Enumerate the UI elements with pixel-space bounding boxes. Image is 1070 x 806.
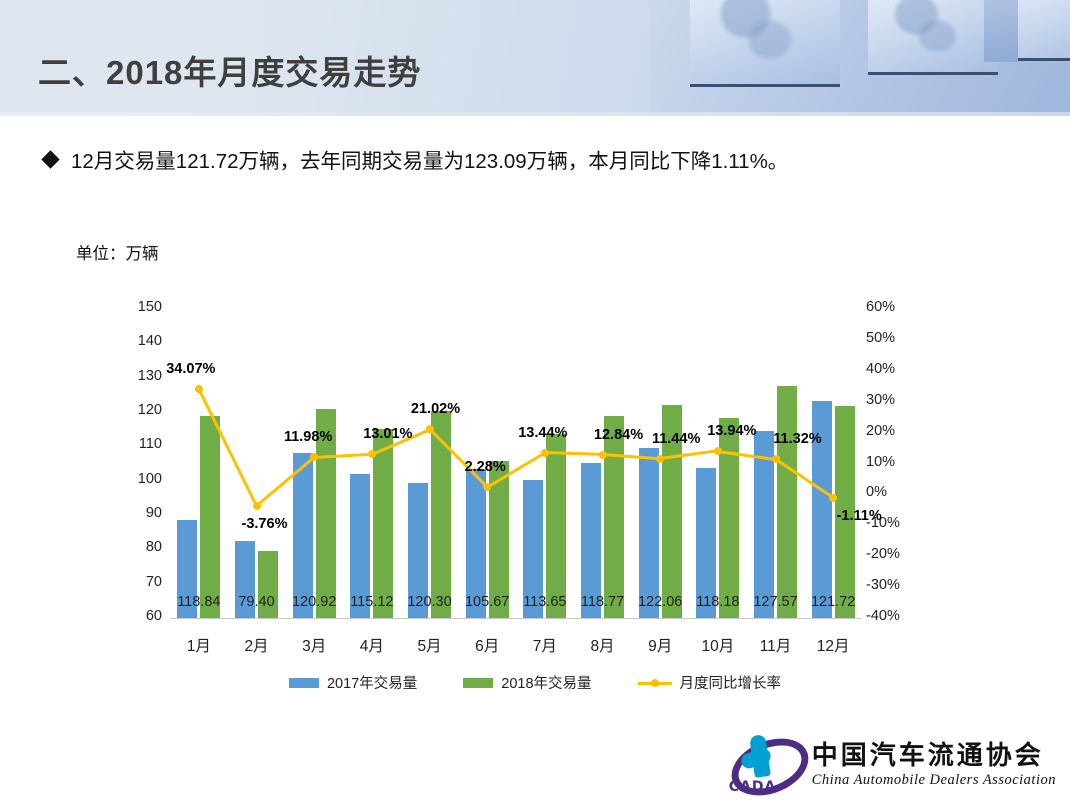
y-axis-left-tick: 70 [118, 574, 162, 590]
bar-2017 [639, 448, 659, 618]
x-axis-tick: 5月 [400, 634, 460, 656]
legend-item-2018[interactable]: 2018年交易量 [463, 672, 591, 693]
x-axis-tick: 12月 [803, 634, 863, 656]
chart-legend: 2017年交易量 2018年交易量 月度同比增长率 [0, 672, 1070, 693]
y-axis-right-tick: 60% [866, 299, 926, 315]
trend-line-marker [541, 449, 549, 457]
y-axis-right-tick: 20% [866, 423, 926, 439]
growth-rate-label: 13.01% [348, 426, 428, 442]
growth-rate-label: 13.44% [503, 425, 583, 441]
cada-logo-en-text: China Automobile Dealers Association [812, 772, 1056, 789]
trend-line-marker [253, 502, 261, 510]
x-axis-tick: 4月 [342, 634, 402, 656]
bar-value-label: 79.40 [227, 594, 287, 610]
bar-2018 [777, 386, 797, 618]
legend-line-icon [638, 678, 672, 688]
y-axis-left-tick: 90 [118, 505, 162, 521]
trend-line-marker [829, 494, 837, 502]
bar-value-label: 118.77 [573, 594, 633, 610]
bar-value-label: 118.84 [169, 594, 229, 610]
x-axis-tick: 3月 [284, 634, 344, 656]
y-axis-right-tick: -20% [866, 546, 926, 562]
chart-axis-line [170, 618, 862, 619]
x-axis-tick: 11月 [746, 634, 806, 656]
y-axis-right-tick: -40% [866, 608, 926, 624]
x-axis-tick: 7月 [515, 634, 575, 656]
y-axis-left-tick: 120 [118, 402, 162, 418]
bar-2018 [200, 416, 220, 618]
bar-value-label: 113.65 [515, 594, 575, 610]
y-axis-left-tick: 60 [118, 608, 162, 624]
x-axis-tick: 10月 [688, 634, 748, 656]
legend-swatch-icon [289, 678, 319, 688]
y-axis-right-tick: 0% [866, 484, 926, 500]
bar-value-label: 120.30 [400, 594, 460, 610]
cada-logo-mark-icon: CADA [728, 731, 802, 793]
legend-label: 月度同比增长率 [680, 672, 782, 693]
bar-value-label: 115.12 [342, 594, 402, 610]
growth-rate-label: -1.11% [819, 508, 899, 524]
growth-rate-label: -3.76% [225, 516, 305, 532]
bar-2018 [546, 434, 566, 618]
trend-line-marker [599, 451, 607, 459]
growth-rate-label: 21.02% [396, 401, 476, 417]
legend-label: 2017年交易量 [327, 672, 417, 693]
x-axis-tick: 9月 [630, 634, 690, 656]
bar-value-label: 105.67 [457, 594, 517, 610]
y-axis-right-tick: 30% [866, 392, 926, 408]
y-axis-left-tick: 140 [118, 333, 162, 349]
growth-rate-label: 11.32% [758, 431, 838, 447]
x-axis-tick: 8月 [573, 634, 633, 656]
bar-value-label: 118.18 [688, 594, 748, 610]
growth-rate-label: 11.98% [268, 429, 348, 445]
bar-value-label: 121.72 [803, 594, 863, 610]
growth-rate-label: 34.07% [151, 361, 231, 377]
y-axis-left-tick: 80 [118, 539, 162, 555]
trend-line-marker [426, 425, 434, 433]
trend-line-marker [772, 455, 780, 463]
legend-label: 2018年交易量 [501, 672, 591, 693]
y-axis-right-tick: 40% [866, 361, 926, 377]
legend-item-growth-rate[interactable]: 月度同比增长率 [638, 672, 782, 693]
legend-item-2017[interactable]: 2017年交易量 [289, 672, 417, 693]
x-axis-tick: 2月 [227, 634, 287, 656]
bar-value-label: 122.06 [630, 594, 690, 610]
trend-line-marker [195, 385, 203, 393]
bar-2018 [373, 429, 393, 618]
trend-line-marker [368, 450, 376, 458]
y-axis-right-tick: -30% [866, 577, 926, 593]
legend-swatch-icon [463, 678, 493, 688]
cada-logo-cn-text: 中国汽车流通协会 [812, 735, 1056, 772]
bar-value-label: 120.92 [284, 594, 344, 610]
cada-abbr-text: CADA [729, 779, 777, 795]
y-axis-left-tick: 110 [118, 436, 162, 452]
y-axis-left-tick: 100 [118, 471, 162, 487]
y-axis-right-tick: 50% [866, 330, 926, 346]
y-axis-left-tick: 150 [118, 299, 162, 315]
cada-logo: CADA 中国汽车流通协会 China Automobile Dealers A… [728, 731, 1056, 793]
y-axis-right-tick: 10% [866, 454, 926, 470]
growth-rate-label: 2.28% [445, 459, 525, 475]
bar-2018 [719, 418, 739, 618]
x-axis-tick: 1月 [169, 634, 229, 656]
bar-value-label: 127.57 [746, 594, 806, 610]
x-axis-tick: 6月 [457, 634, 517, 656]
bar-2018 [604, 416, 624, 618]
